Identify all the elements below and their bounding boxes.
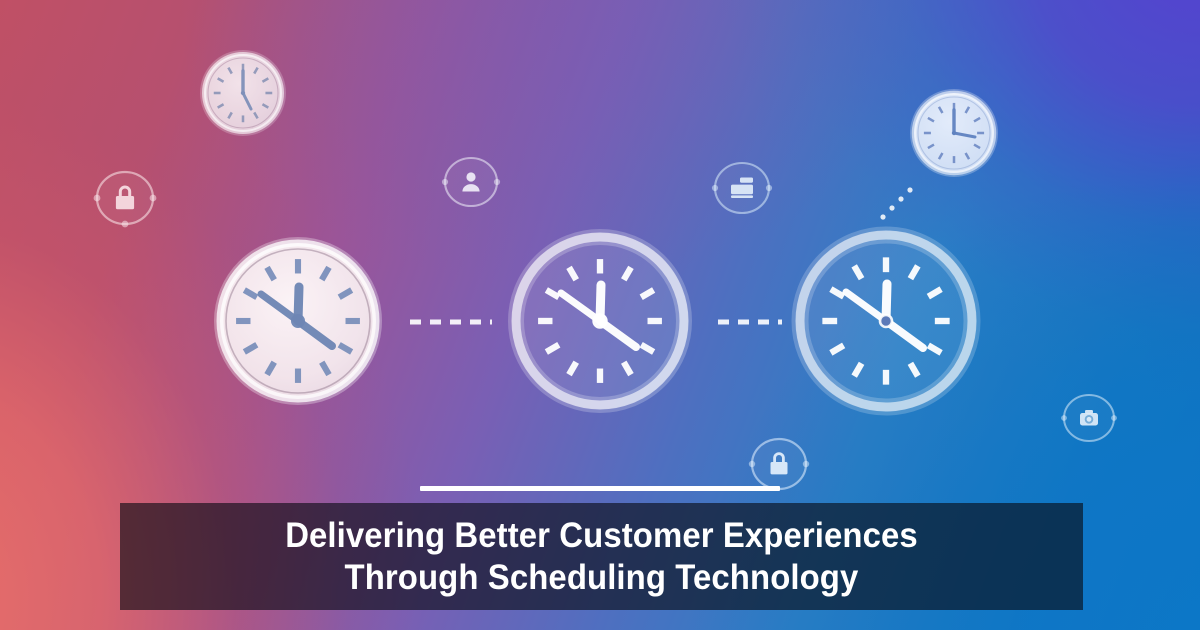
clock-small-top-right [910, 89, 998, 177]
clock-small-top-left [200, 50, 286, 136]
badge-user [442, 158, 500, 206]
clock-large-left [214, 237, 382, 405]
page-title: Delivering Better Customer Experiences T… [285, 515, 918, 598]
badge-camera [1061, 395, 1117, 441]
promo-banner-image: Delivering Better Customer Experiences T… [0, 0, 1200, 630]
title-banner: Delivering Better Customer Experiences T… [120, 503, 1083, 610]
badge-calendar [712, 163, 772, 213]
badge-lock-left [94, 172, 157, 227]
title-divider-rule [420, 486, 780, 491]
clock-large-center [512, 233, 688, 409]
clock-large-right [796, 231, 976, 411]
badge-lock-bottom [749, 439, 809, 489]
connector-clock-trail [880, 187, 912, 219]
